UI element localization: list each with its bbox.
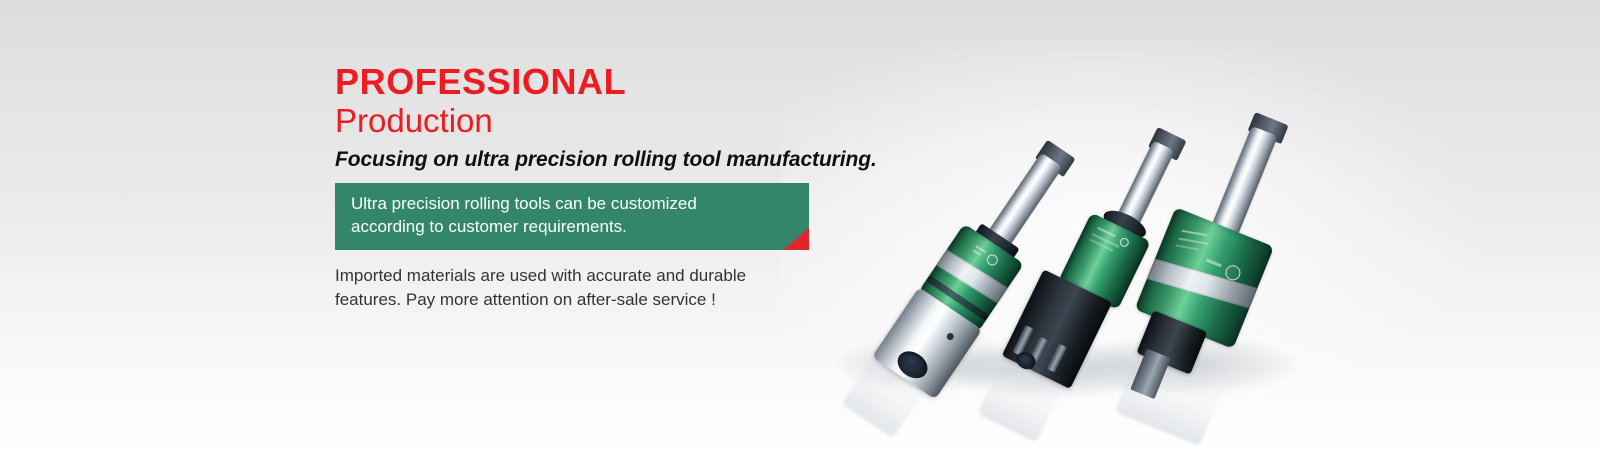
- headline-secondary: Production: [335, 102, 1035, 141]
- body-copy: Imported materials are used with accurat…: [335, 264, 1035, 313]
- body-line-2: features. Pay more attention on after-sa…: [335, 288, 1035, 312]
- banner-copy: PROFESSIONAL Production Focusing on ultr…: [335, 64, 1035, 313]
- highlight-callout: Ultra precision rolling tools can be cus…: [335, 183, 809, 250]
- tagline: Focusing on ultra precision rolling tool…: [335, 147, 1035, 173]
- body-line-1: Imported materials are used with accurat…: [335, 264, 1035, 288]
- headline-primary: PROFESSIONAL: [335, 64, 1035, 100]
- tool-right-shank: [1211, 126, 1278, 238]
- promo-banner: PROFESSIONAL Production Focusing on ultr…: [0, 0, 1600, 454]
- corner-accent-triangle: [775, 224, 809, 250]
- highlight-line-2: according to customer requirements.: [351, 216, 795, 239]
- highlight-line-1: Ultra precision rolling tools can be cus…: [351, 193, 795, 216]
